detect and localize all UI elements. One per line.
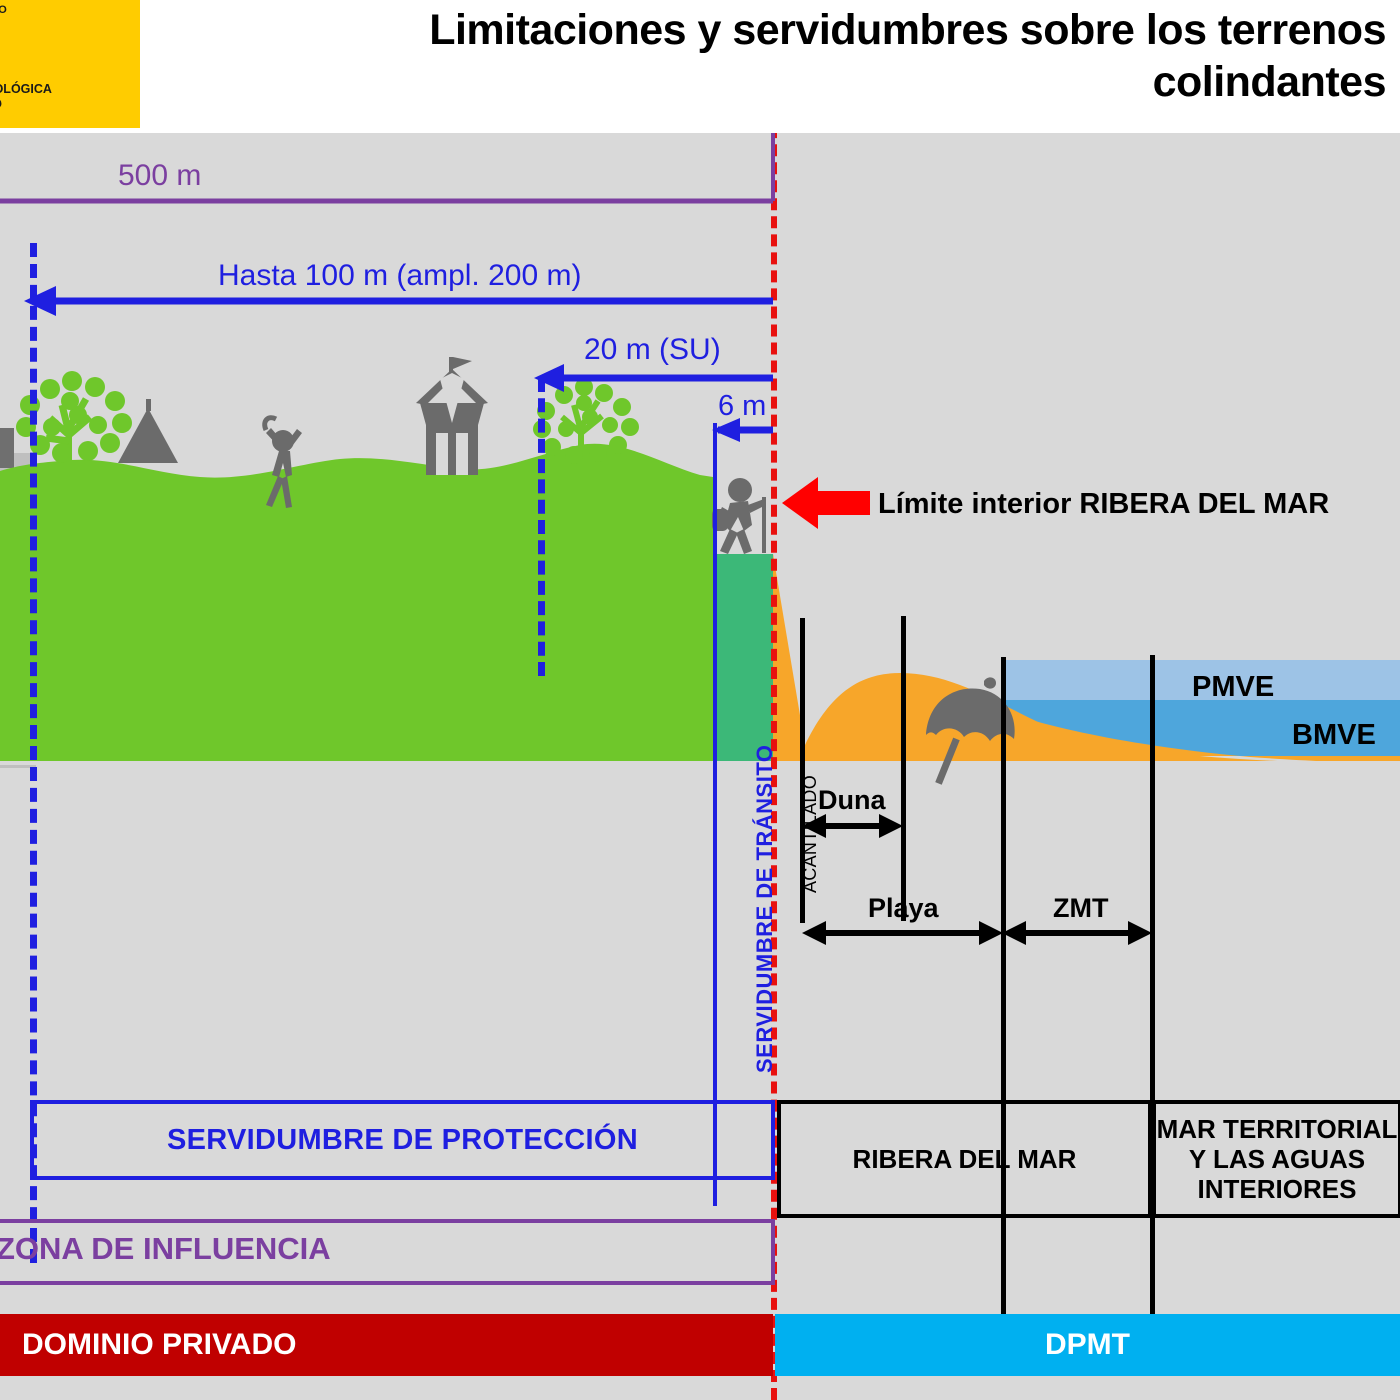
dimension-label-500m: 500 m	[118, 159, 201, 193]
dimension-label-6m: 6 m	[718, 390, 766, 423]
logo-line-ministerio: ÓN ECOLÓGICA RÁFICO	[0, 82, 52, 112]
pmve-label: PMVE	[1192, 671, 1274, 704]
bmve-label: BMVE	[1292, 719, 1376, 752]
zona-influencia-bottom-rule	[0, 1281, 773, 1285]
header: BIERNO ÓN ECOLÓGICA RÁFICO Limitaciones …	[0, 0, 1400, 133]
dpmt-label: DPMT	[1045, 1328, 1130, 1362]
zona-influencia-right-rule	[771, 1219, 775, 1285]
servidumbre-proteccion-box: SERVIDUMBRE DE PROTECCIÓN	[30, 1100, 775, 1180]
government-logo: BIERNO ÓN ECOLÓGICA RÁFICO	[0, 0, 140, 128]
grass-hill	[0, 444, 713, 763]
limite-interior-label: Límite interior RIBERA DEL MAR	[878, 488, 1329, 521]
diagram-canvas: 500 m Hasta 100 m (ampl. 200 m) 20 m (SU…	[0, 133, 1400, 1400]
duna-label: Duna	[818, 785, 886, 816]
page-title: Limitaciones y servidumbres sobre los te…	[386, 4, 1386, 108]
dimension-label-20m: 20 m (SU)	[584, 333, 721, 367]
ribera-del-mar-label: RIBERA DEL MAR	[853, 1144, 1077, 1174]
servidumbre-transito-label: SERVIDUMBRE DE TRÁNSITO	[752, 744, 778, 1073]
zona-influencia-label: ZONA DE INFLUENCIA	[0, 1231, 331, 1267]
logo-ministerio-b: RÁFICO	[0, 97, 2, 111]
dimension-label-100m: Hasta 100 m (ampl. 200 m)	[218, 259, 581, 293]
mar-territorial-box: MAR TERRITORIAL Y LAS AGUAS INTERIORES	[1152, 1100, 1400, 1218]
guide-line-transito-inner	[713, 423, 717, 1206]
logo-line-gobierno: BIERNO	[0, 4, 7, 16]
marker-line-duna-end	[901, 616, 906, 921]
zona-influencia-top-rule	[0, 1219, 773, 1223]
logo-ministerio-a: ÓN ECOLÓGICA	[0, 82, 52, 96]
mar-territorial-label: MAR TERRITORIAL Y LAS AGUAS INTERIORES	[1156, 1114, 1398, 1204]
dpmt-bar: DPMT	[775, 1314, 1400, 1376]
hiker-icon	[712, 478, 766, 554]
pavilion-icon	[416, 357, 488, 475]
servidumbre-proteccion-label: SERVIDUMBRE DE PROTECCIÓN	[167, 1124, 638, 1157]
guide-line-suelo-urbano	[538, 378, 545, 676]
grass-edge-sliver	[696, 557, 713, 763]
playa-label: Playa	[868, 893, 939, 924]
ribera-del-mar-box: RIBERA DEL MAR	[777, 1100, 1152, 1218]
dominio-privado-bar: DOMINIO PRIVADO	[0, 1314, 773, 1376]
marker-line-playa-zmt	[1001, 657, 1006, 1337]
zmt-label: ZMT	[1053, 893, 1108, 924]
dominio-privado-label: DOMINIO PRIVADO	[22, 1328, 296, 1362]
marker-line-zmt-end	[1150, 655, 1155, 1337]
guide-line-zona-influencia-top	[771, 133, 775, 201]
diagram-root: BIERNO ÓN ECOLÓGICA RÁFICO Limitaciones …	[0, 0, 1400, 1400]
ground-baseline	[0, 761, 1400, 765]
transit-servitude-band	[713, 554, 773, 763]
